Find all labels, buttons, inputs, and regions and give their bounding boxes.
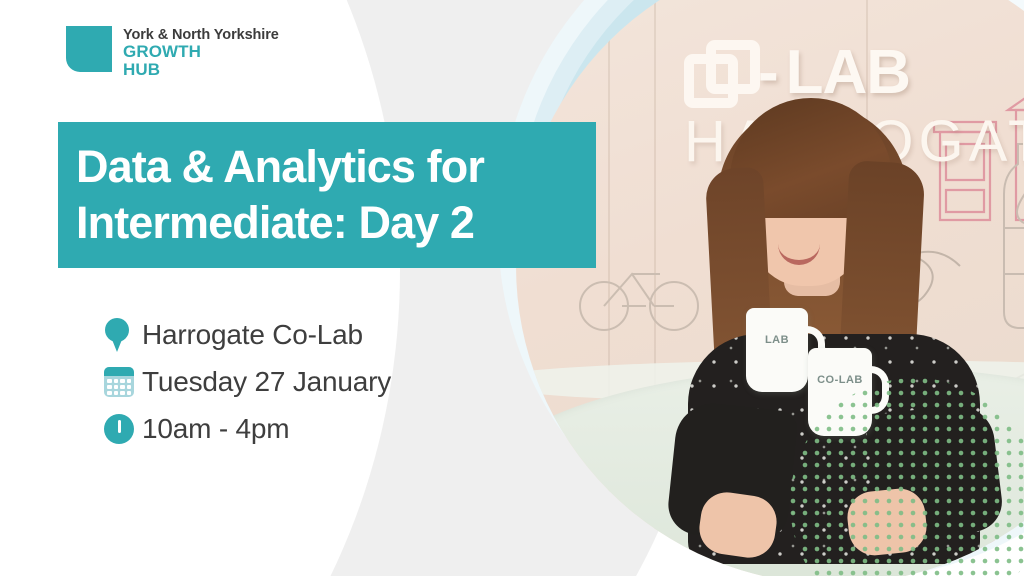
mug-label: LAB — [746, 334, 808, 346]
detail-text-time: 10am - 4pm — [142, 413, 289, 445]
grey-swoosh-cutout — [0, 0, 400, 576]
detail-text-location: Harrogate Co-Lab — [142, 319, 363, 351]
mug-back: LAB — [746, 308, 808, 392]
logo-line-region: York & North Yorkshire — [123, 27, 279, 43]
detail-row-time: 10am - 4pm — [104, 406, 391, 452]
calendar-icon — [104, 367, 142, 397]
detail-row-date: Tuesday 27 January — [104, 359, 391, 405]
event-title-line-2: Intermediate: Day 2 — [76, 195, 578, 251]
logo-line-hub: HUB — [123, 61, 279, 79]
event-promo-card: - LAB HARROGATE — [0, 0, 1024, 576]
detail-row-location: Harrogate Co-Lab — [104, 312, 391, 358]
growth-hub-logo[interactable]: York & North Yorkshire GROWTH HUB — [66, 26, 279, 78]
mug-label: CO-LAB — [808, 374, 872, 386]
growth-hub-logo-text: York & North Yorkshire GROWTH HUB — [123, 26, 279, 78]
event-details-list: Harrogate Co-Lab Tuesday 27 January 10a — [104, 312, 391, 453]
detail-text-date: Tuesday 27 January — [142, 366, 391, 398]
logo-line-growth: GROWTH — [123, 43, 279, 61]
location-pin-icon — [104, 318, 142, 352]
event-title-banner: Data & Analytics for Intermediate: Day 2 — [58, 122, 596, 268]
event-title-line-1: Data & Analytics for — [76, 139, 578, 195]
growth-hub-square-icon — [66, 26, 112, 72]
clock-icon — [104, 414, 142, 444]
